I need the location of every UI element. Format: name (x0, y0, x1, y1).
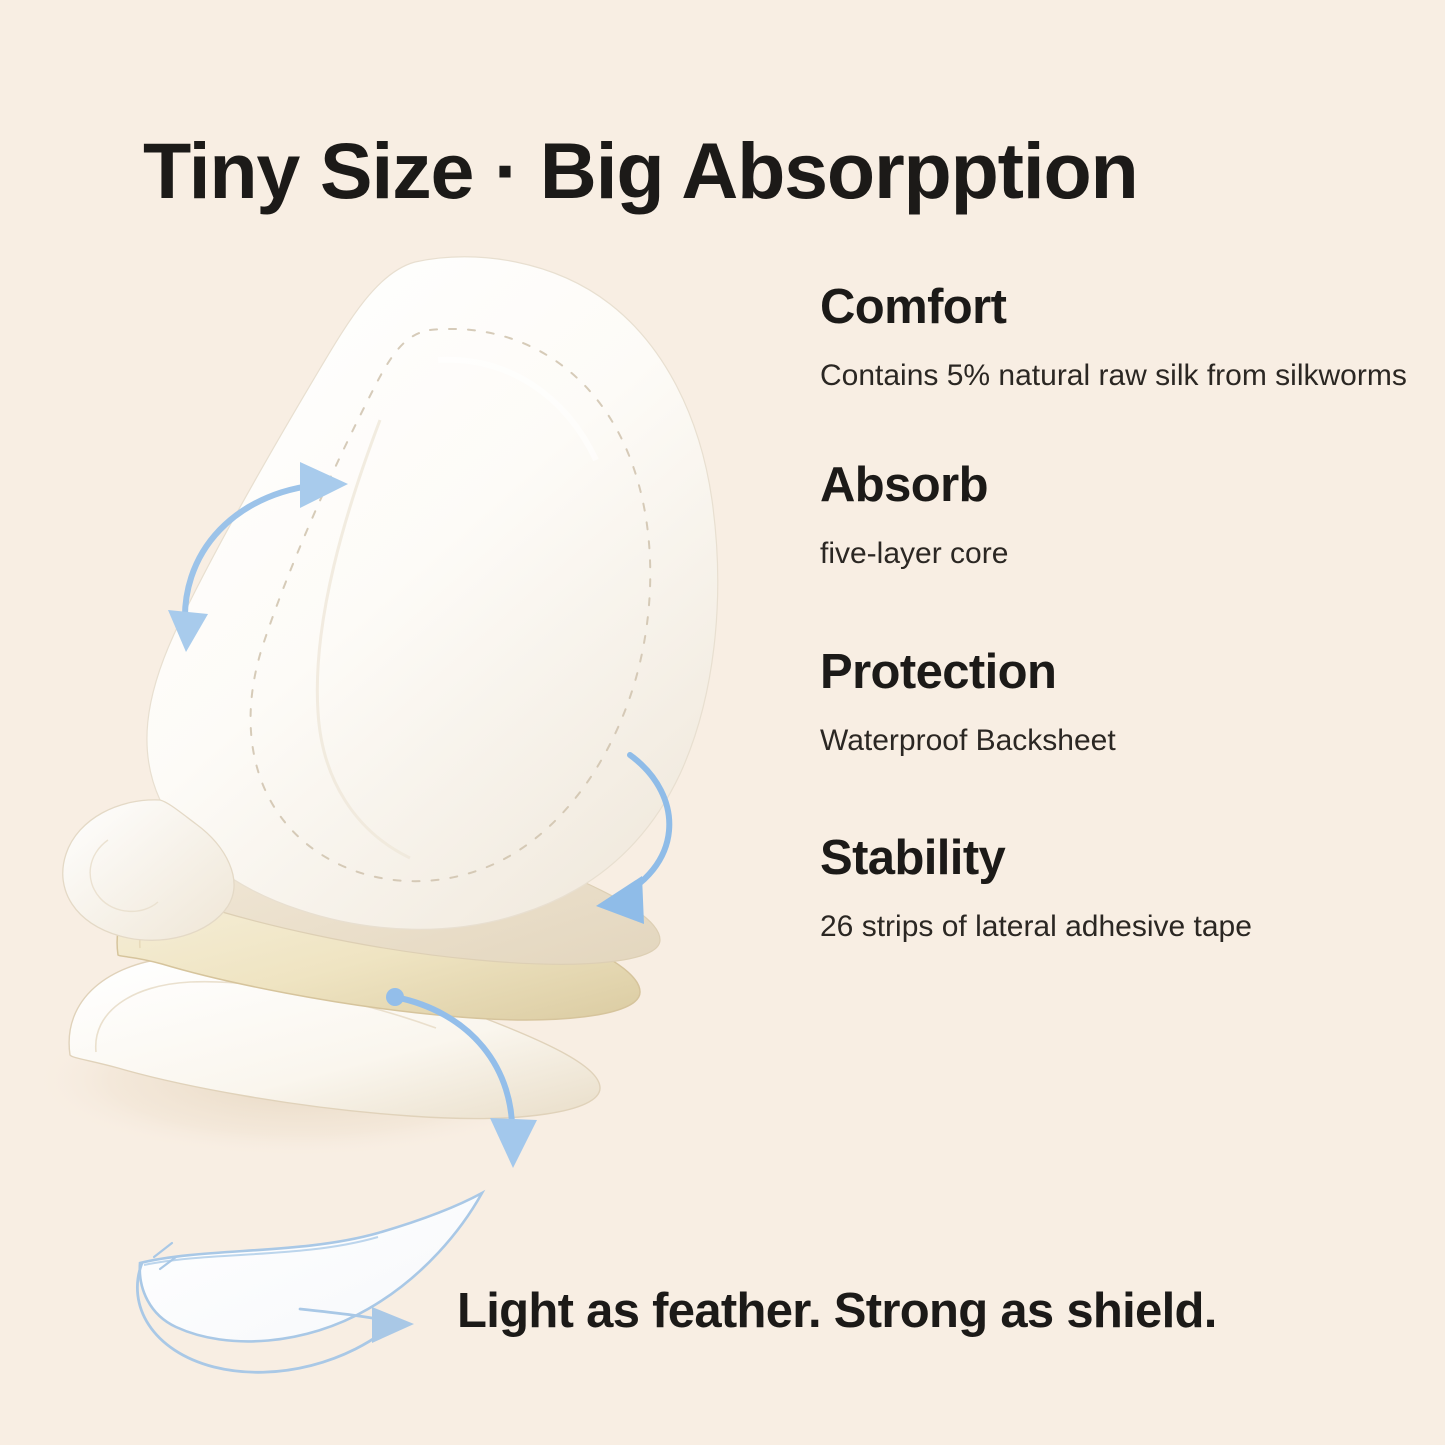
feature-list: Comfort Contains 5% natural raw silk fro… (820, 281, 1420, 948)
feature-desc-protection: Waterproof Backsheet (820, 721, 1410, 762)
feature-desc-stability: 26 strips of lateral adhesive tape (820, 907, 1410, 948)
feature-item-absorb: Absorb five-layer core (820, 459, 1420, 575)
feature-item-stability: Stability 26 strips of lateral adhesive … (820, 832, 1420, 948)
layer-top-sheet (63, 257, 718, 965)
feature-desc-comfort: Contains 5% natural raw silk from silkwo… (820, 356, 1410, 397)
crescent-shape (140, 1193, 482, 1341)
feature-title-absorb: Absorb (820, 459, 1420, 512)
feature-item-comfort: Comfort Contains 5% natural raw silk fro… (820, 281, 1420, 397)
feature-item-protection: Protection Waterproof Backsheet (820, 646, 1420, 762)
feature-title-stability: Stability (820, 832, 1420, 885)
product-illustration (0, 200, 800, 1200)
feature-title-comfort: Comfort (820, 281, 1420, 334)
page-title: Tiny Size · Big Absorpption (143, 131, 1343, 210)
tagline: Light as feather. Strong as shield. (457, 1283, 1217, 1339)
infographic-canvas: Tiny Size · Big Absorpption (0, 0, 1445, 1445)
feature-desc-absorb: five-layer core (820, 534, 1410, 575)
feature-title-protection: Protection (820, 646, 1420, 699)
product-layers-graphic (0, 200, 800, 1200)
